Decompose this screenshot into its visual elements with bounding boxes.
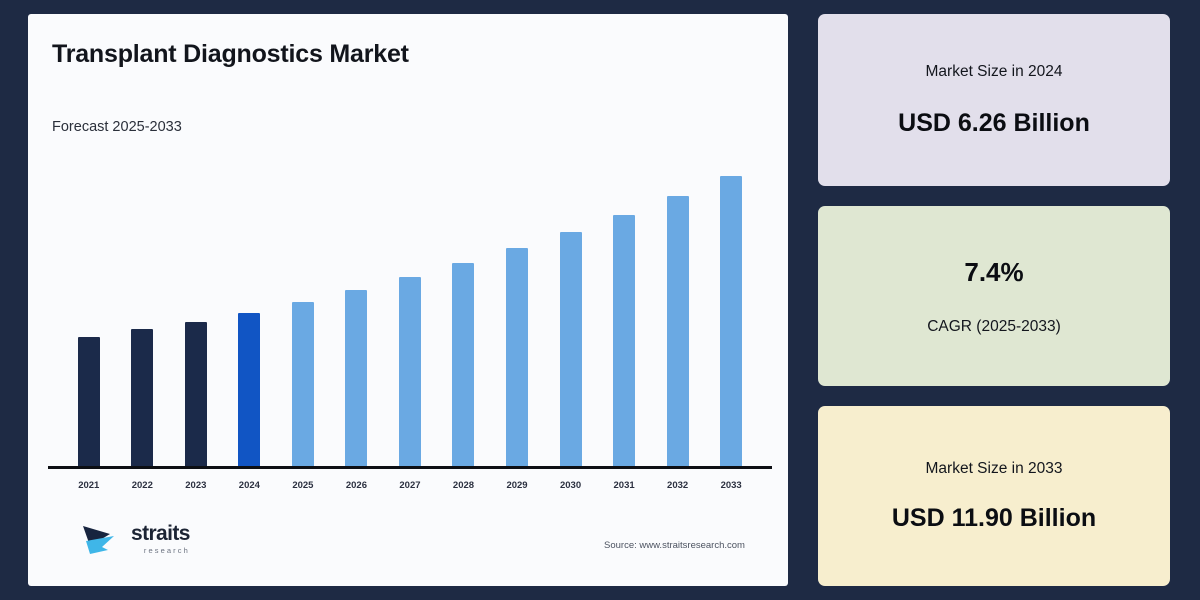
x-tick-2024: 2024 — [223, 472, 277, 491]
bar-slot — [330, 154, 384, 466]
stat-card-label: CAGR (2025-2033) — [927, 318, 1061, 336]
x-tick-2028: 2028 — [437, 472, 491, 491]
bar-series — [52, 154, 768, 466]
stat-card-value: USD 6.26 Billion — [898, 109, 1090, 138]
x-tick-2023: 2023 — [169, 472, 223, 491]
chart-panel: Transplant Diagnostics Market Forecast 2… — [28, 14, 788, 586]
bar-2033 — [720, 176, 742, 466]
bar-2029 — [506, 248, 528, 466]
bar-slot — [490, 154, 544, 466]
bar-2027 — [399, 277, 421, 466]
bar-slot — [383, 154, 437, 466]
bar-slot — [544, 154, 598, 466]
x-tick-2032: 2032 — [651, 472, 705, 491]
x-tick-2025: 2025 — [276, 472, 330, 491]
stat-card-value: USD 11.90 Billion — [892, 504, 1096, 533]
x-tick-2031: 2031 — [597, 472, 651, 491]
brand-tagline: research — [131, 547, 190, 555]
bar-2028 — [452, 263, 474, 466]
stat-card-value: 7.4% — [964, 257, 1023, 288]
bar-2021 — [78, 337, 100, 466]
bar-slot — [651, 154, 705, 466]
stat-cards-column: Market Size in 2024 USD 6.26 Billion 7.4… — [818, 14, 1170, 586]
x-tick-2022: 2022 — [116, 472, 170, 491]
bar-slot — [597, 154, 651, 466]
x-tick-2029: 2029 — [490, 472, 544, 491]
market-infographic: Transplant Diagnostics Market Forecast 2… — [0, 0, 1200, 600]
bar-slot — [704, 154, 758, 466]
bar-chart-plot-area: 2021202220232024202520262027202820292030… — [52, 154, 768, 466]
x-axis-line — [48, 466, 772, 469]
brand-logo: straits research — [80, 517, 190, 561]
stat-card-market-size-2024: Market Size in 2024 USD 6.26 Billion — [818, 14, 1170, 186]
bar-slot — [223, 154, 277, 466]
stat-card-label: Market Size in 2033 — [926, 460, 1063, 478]
stat-card-cagr: 7.4% CAGR (2025-2033) — [818, 206, 1170, 386]
source-note: Source: www.straitsresearch.com — [604, 540, 745, 551]
brand-wordmark: straits research — [131, 523, 190, 555]
bar-slot — [62, 154, 116, 466]
bar-2022 — [131, 329, 153, 466]
bar-slot — [276, 154, 330, 466]
x-tick-2021: 2021 — [62, 472, 116, 491]
bar-2024 — [238, 313, 260, 466]
x-tick-2030: 2030 — [544, 472, 598, 491]
stat-card-label: Market Size in 2024 — [926, 63, 1063, 81]
bar-slot — [169, 154, 223, 466]
x-tick-2026: 2026 — [330, 472, 384, 491]
bar-2023 — [185, 322, 207, 466]
straits-arrow-icon — [80, 517, 124, 561]
bar-slot — [116, 154, 170, 466]
x-tick-2027: 2027 — [383, 472, 437, 491]
bar-2026 — [345, 290, 367, 466]
bar-slot — [437, 154, 491, 466]
stat-card-market-size-2033: Market Size in 2033 USD 11.90 Billion — [818, 406, 1170, 586]
page-title: Transplant Diagnostics Market — [52, 40, 409, 69]
bar-2031 — [613, 215, 635, 466]
bar-2032 — [667, 196, 689, 466]
bar-2025 — [292, 302, 314, 466]
x-tick-2033: 2033 — [704, 472, 758, 491]
bar-2030 — [560, 232, 582, 466]
chart-subtitle: Forecast 2025-2033 — [52, 119, 182, 135]
brand-name: straits — [131, 523, 190, 544]
x-axis-tick-labels: 2021202220232024202520262027202820292030… — [52, 472, 768, 491]
